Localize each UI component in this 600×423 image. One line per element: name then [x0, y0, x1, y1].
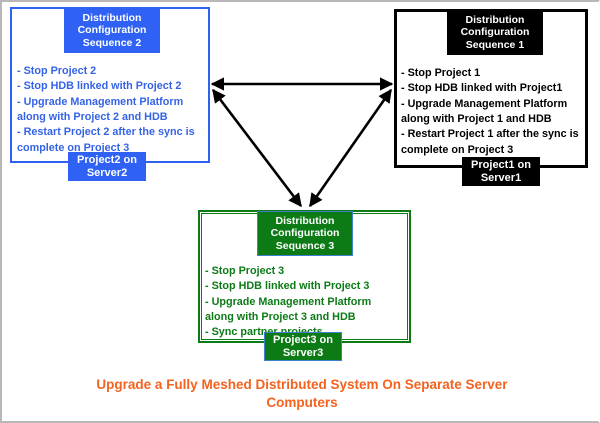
node-sequence-3-footer: Project3 on Server3	[264, 332, 342, 361]
node-sequence-3-steps: - Stop Project 3 - Stop HDB linked with …	[205, 264, 405, 341]
node-sequence-1-steps: - Stop Project 1 - Stop HDB linked with …	[401, 66, 589, 158]
node-sequence-1-footer: Project1 on Server1	[462, 157, 540, 186]
node-sequence-2-footer: Project2 on Server2	[68, 152, 146, 181]
node-sequence-2-steps: - Stop Project 2 - Stop HDB linked with …	[17, 64, 205, 156]
node-sequence-1-header: Distribution Configuration Sequence 1	[447, 10, 543, 55]
connector-sequence-1-to-sequence-3	[310, 90, 391, 206]
diagram-canvas: Distribution Configuration Sequence 2 - …	[0, 0, 600, 423]
node-sequence-3-header: Distribution Configuration Sequence 3	[257, 211, 353, 256]
node-sequence-2-header: Distribution Configuration Sequence 2	[64, 8, 160, 53]
connector-sequence-2-to-sequence-3	[213, 90, 301, 206]
diagram-caption: Upgrade a Fully Meshed Distributed Syste…	[57, 376, 547, 412]
